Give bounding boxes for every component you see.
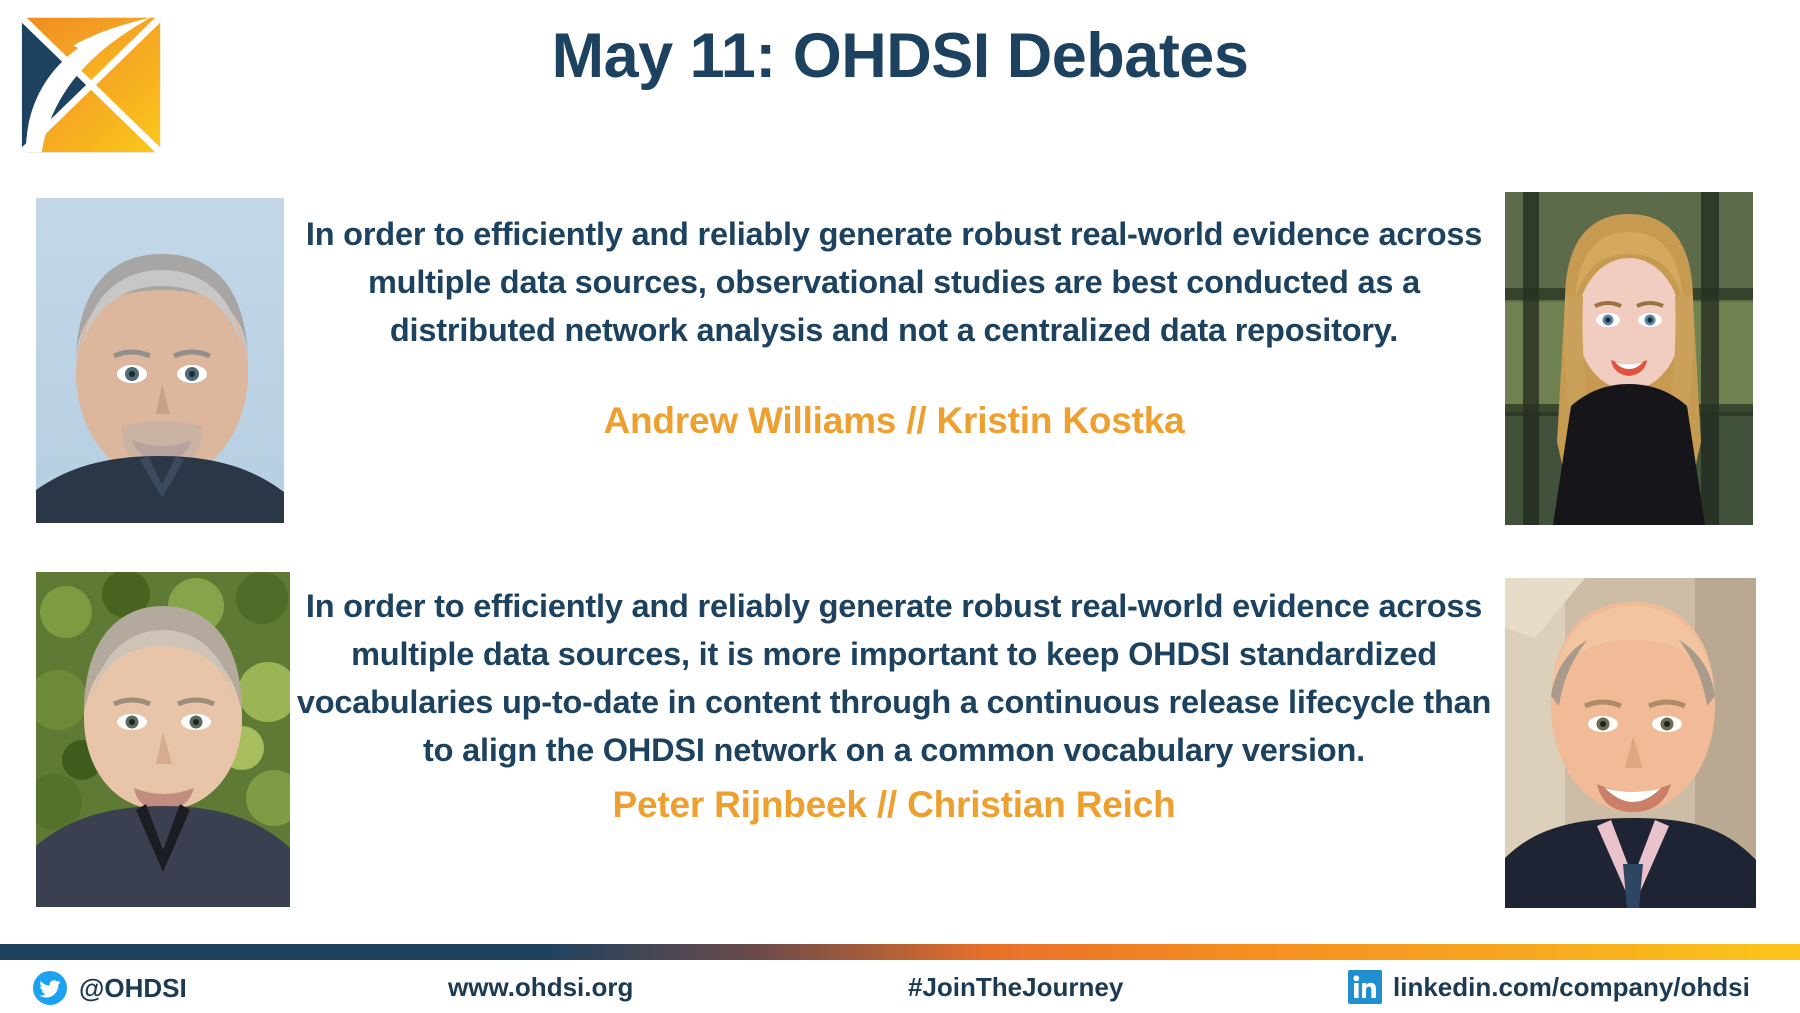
- debate-statement: In order to efficiently and reliably gen…: [288, 210, 1500, 354]
- debate-block-2: In order to efficiently and reliably gen…: [288, 582, 1500, 829]
- footer-linkedin[interactable]: linkedin.com/company/ohdsi: [1348, 970, 1750, 1004]
- debate-block-1: In order to efficiently and reliably gen…: [288, 210, 1500, 445]
- footer-hashtag-label: #JoinTheJourney: [908, 972, 1123, 1003]
- portrait-kristin-kostka: [1505, 192, 1753, 525]
- slide-root: May 11: OHDSI Debates: [0, 0, 1800, 1013]
- linkedin-icon: [1348, 970, 1382, 1004]
- footer-linkedin-label: linkedin.com/company/ohdsi: [1393, 972, 1750, 1003]
- footer-hashtag: #JoinTheJourney: [908, 972, 1123, 1003]
- portrait-peter-rijnbeek: [36, 572, 290, 907]
- footer-twitter[interactable]: @OHDSI: [32, 970, 187, 1006]
- debate-speakers: Andrew Williams // Kristin Kostka: [288, 398, 1500, 444]
- debate-speakers: Peter Rijnbeek // Christian Reich: [288, 782, 1500, 828]
- footer-gradient-bar: [0, 944, 1800, 960]
- debate-statement: In order to efficiently and reliably gen…: [288, 582, 1500, 774]
- footer-website[interactable]: www.ohdsi.org: [448, 972, 633, 1003]
- footer-twitter-label: @OHDSI: [79, 973, 187, 1004]
- twitter-bird-icon: [32, 970, 68, 1006]
- portrait-andrew-williams: [36, 198, 284, 523]
- footer: @OHDSI www.ohdsi.org #JoinTheJourney lin…: [0, 960, 1800, 1013]
- page-title: May 11: OHDSI Debates: [200, 22, 1600, 91]
- ohdsi-logo: [12, 10, 170, 160]
- portrait-christian-reich: [1505, 578, 1756, 908]
- footer-website-label: www.ohdsi.org: [448, 972, 633, 1003]
